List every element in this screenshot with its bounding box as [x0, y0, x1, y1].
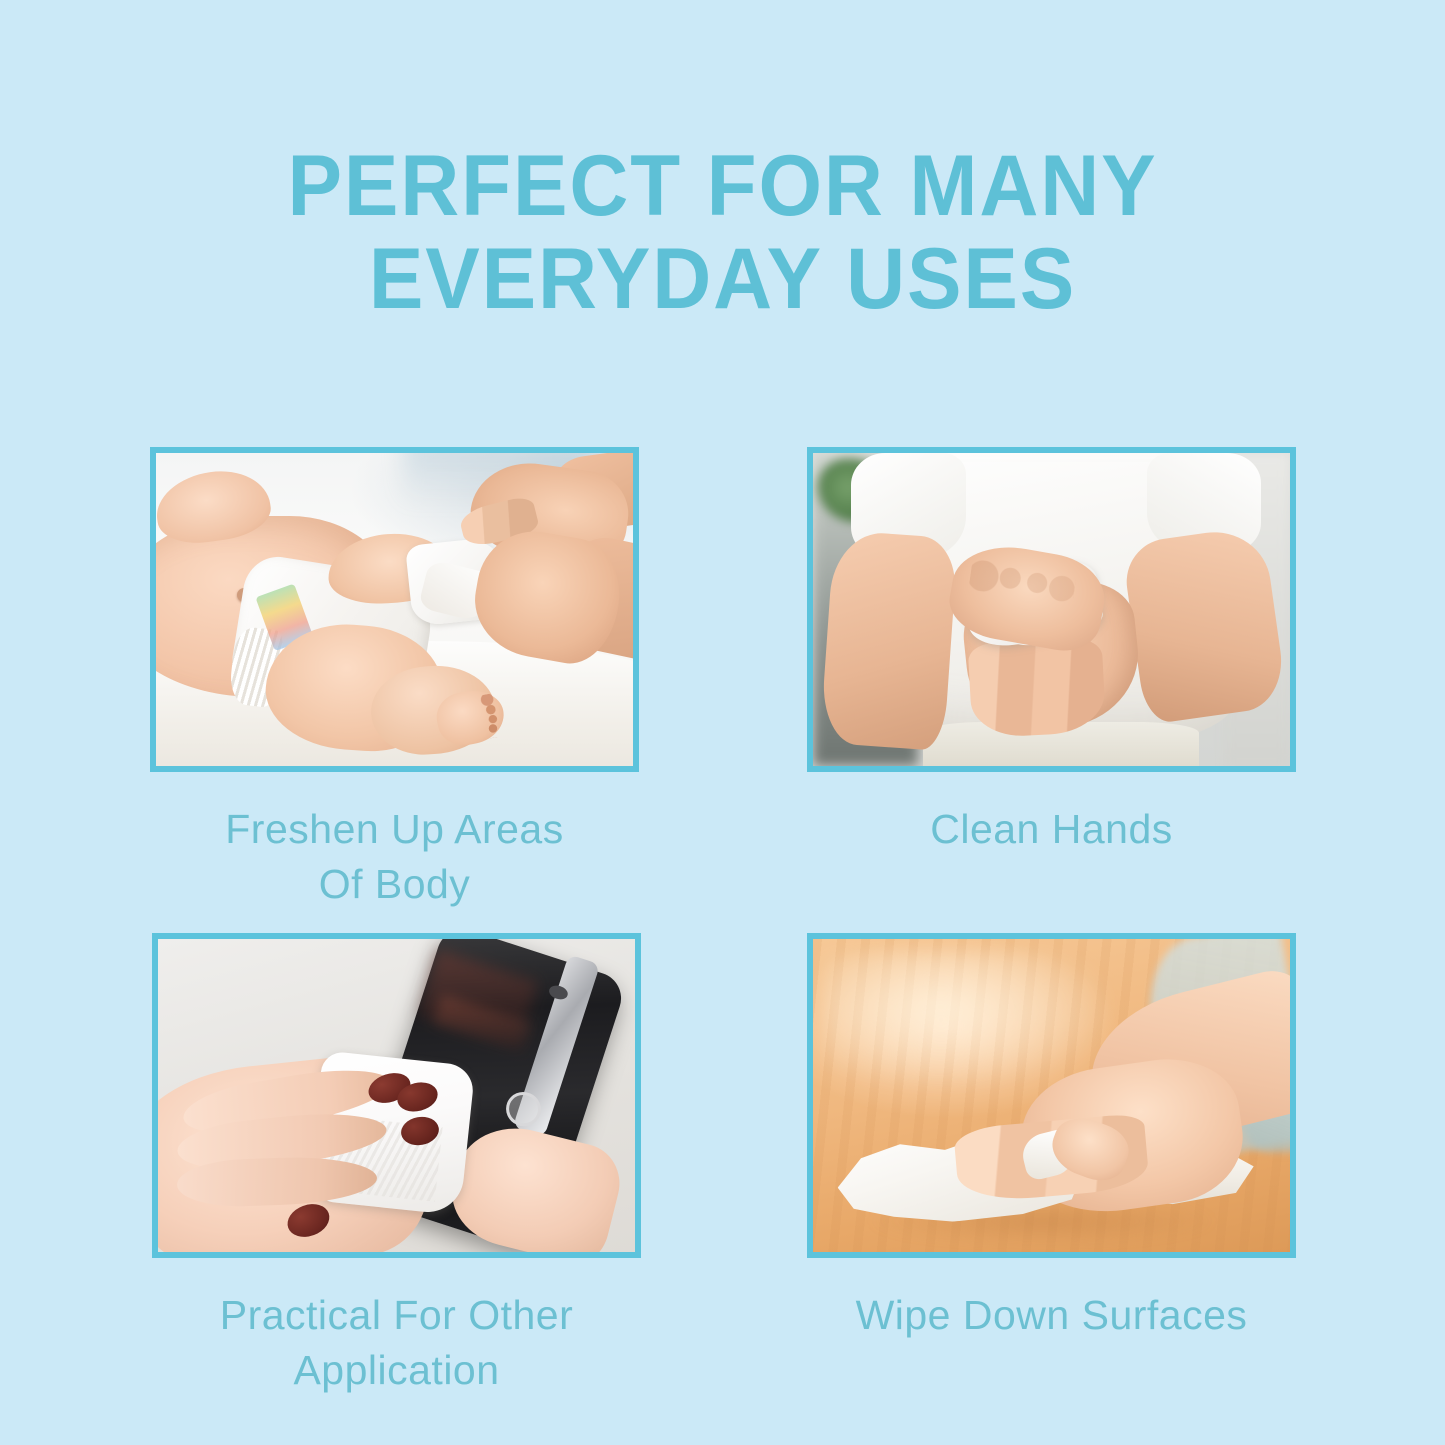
caption-line-1: Wipe Down Surfaces	[807, 1288, 1296, 1343]
use-case-grid: Freshen Up Areas Of Body	[150, 447, 1296, 1257]
use-case-caption: Practical For Other Application	[152, 1288, 641, 1397]
photo-baby-diaper-change	[156, 453, 633, 766]
photo-wipe-down-surface	[813, 939, 1290, 1252]
baby-toes-shape	[467, 691, 512, 741]
use-case-card-practical-for-other-application: Practical For Other Application	[152, 933, 641, 1397]
photo-frame-baby-wipe	[150, 447, 639, 772]
page-title-line-2: EVERYDAY USES	[36, 233, 1409, 326]
use-case-card-wipe-down-surfaces: Wipe Down Surfaces	[807, 933, 1296, 1343]
use-case-card-freshen-up-areas-of-body: Freshen Up Areas Of Body	[150, 447, 639, 911]
page-title: PERFECT FOR MANY EVERYDAY USES	[36, 140, 1409, 326]
use-case-caption: Wipe Down Surfaces	[807, 1288, 1296, 1343]
caption-line-2: Application	[152, 1343, 641, 1398]
lower-fingers-shape	[968, 637, 1106, 738]
photo-clean-hands	[813, 453, 1290, 766]
photo-frame-surface-wipe	[807, 933, 1296, 1258]
photo-phone-cleaning	[158, 939, 635, 1252]
left-arm-shape	[820, 530, 959, 751]
caption-line-1: Freshen Up Areas	[150, 802, 639, 857]
photo-frame-phone-wipe	[152, 933, 641, 1258]
page-title-line-1: PERFECT FOR MANY	[36, 140, 1409, 233]
infographic-page: PERFECT FOR MANY EVERYDAY USES	[0, 0, 1445, 1445]
surface-highlight	[823, 952, 1119, 1090]
caption-line-1: Practical For Other	[152, 1288, 641, 1343]
use-case-caption: Clean Hands	[807, 802, 1296, 857]
use-case-card-clean-hands: Clean Hands	[807, 447, 1296, 857]
use-case-caption: Freshen Up Areas Of Body	[150, 802, 639, 911]
caption-line-1: Clean Hands	[807, 802, 1296, 857]
photo-frame-clean-hands	[807, 447, 1296, 772]
caption-line-2: Of Body	[150, 857, 639, 912]
